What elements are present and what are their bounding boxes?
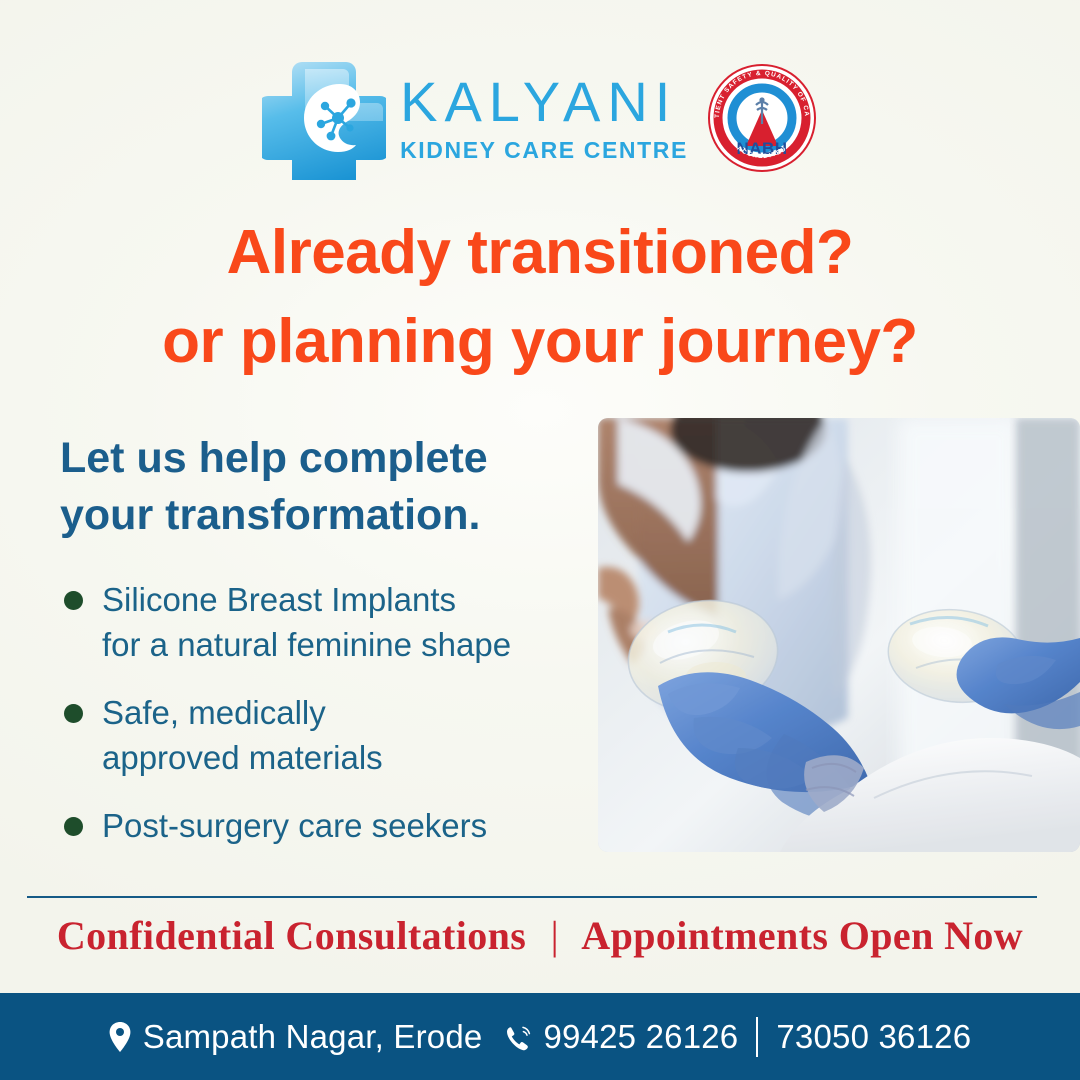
headline: Already transitioned? or planning your j… bbox=[0, 208, 1080, 387]
benefit-line-2: approved materials bbox=[102, 736, 598, 781]
phone-secondary: 73050 36126 bbox=[776, 1018, 971, 1056]
bullet-dot-icon bbox=[64, 817, 83, 836]
list-item: Silicone Breast Implants for a natural f… bbox=[58, 578, 598, 668]
brand-subtitle: KIDNEY CARE CENTRE bbox=[400, 139, 688, 162]
benefit-line-2: for a natural feminine shape bbox=[102, 623, 598, 668]
contact-info: Sampath Nagar, Erode 99425 26126 73050 3… bbox=[109, 1017, 972, 1057]
brand-wordmark: KALYANI KIDNEY CARE CENTRE bbox=[400, 74, 688, 162]
tagline-left: Confidential Consultations bbox=[57, 913, 526, 958]
phone-divider bbox=[756, 1017, 758, 1057]
bullet-dot-icon bbox=[64, 704, 83, 723]
tagline-separator: | bbox=[537, 912, 573, 959]
brand-name: KALYANI bbox=[400, 74, 677, 130]
phone-primary: 99425 26126 bbox=[543, 1018, 738, 1056]
location-text: Sampath Nagar, Erode bbox=[143, 1018, 483, 1056]
tagline-right: Appointments Open Now bbox=[581, 913, 1023, 958]
list-item: Safe, medically approved materials bbox=[58, 691, 598, 781]
phone-icon bbox=[504, 1023, 532, 1051]
bullet-dot-icon bbox=[64, 591, 83, 610]
tagline-bar: Confidential Consultations | Appointment… bbox=[0, 912, 1080, 959]
consultation-photo bbox=[598, 418, 1080, 852]
divider-rule bbox=[27, 896, 1037, 898]
headline-line-1: Already transitioned? bbox=[0, 208, 1080, 297]
list-item: Post-surgery care seekers bbox=[58, 804, 598, 849]
contact-footer: Sampath Nagar, Erode 99425 26126 73050 3… bbox=[0, 993, 1080, 1080]
kidney-cross-icon bbox=[262, 56, 386, 180]
benefit-line-1: Post-surgery care seekers bbox=[102, 804, 598, 849]
benefit-line-1: Safe, medically bbox=[102, 691, 598, 736]
benefits-list: Silicone Breast Implants for a natural f… bbox=[58, 578, 598, 848]
benefit-line-1: Silicone Breast Implants bbox=[102, 578, 598, 623]
subheading: Let us help complete your transformation… bbox=[60, 430, 580, 544]
brand-header: KALYANI KIDNEY CARE CENTRE NABH bbox=[0, 52, 1080, 184]
subheading-line-2: your transformation. bbox=[60, 487, 580, 544]
poster-canvas: KALYANI KIDNEY CARE CENTRE NABH bbox=[0, 0, 1080, 1080]
location-pin-icon bbox=[109, 1022, 131, 1052]
subheading-line-1: Let us help complete bbox=[60, 430, 580, 487]
nabh-accreditation-badge: NABH PATIENT SAFETY & QUALITY OF CARE • … bbox=[706, 62, 818, 174]
headline-line-2: or planning your journey? bbox=[0, 297, 1080, 386]
